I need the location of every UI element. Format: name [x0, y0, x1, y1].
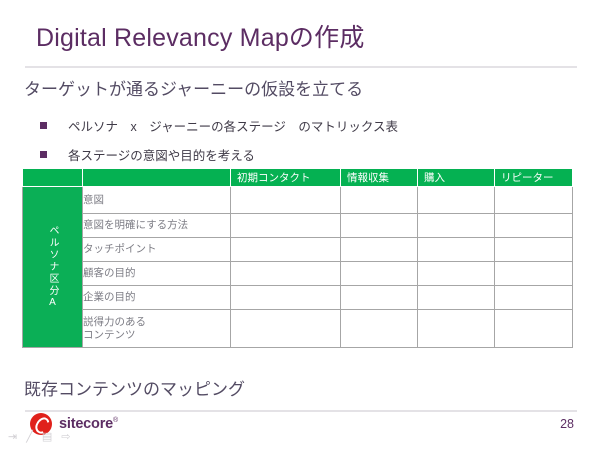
row-label-customer-goal: 顧客の目的 [83, 262, 231, 286]
cell-persuasive-content-purchase[interactable] [418, 310, 495, 348]
bullet-item-1-label: ペルソナ x ジャーニーの各ステージ のマトリックス表 [68, 116, 398, 135]
table-header-info-gathering: 情報収集 [341, 169, 418, 187]
square-bullet-icon [40, 151, 47, 158]
persona-segment-label: ペルソナ区分A [23, 187, 83, 348]
relevancy-matrix-table: 初期コンタクト 情報収集 購入 リピーター ペルソナ区分A 意図 意図を明確にす… [22, 168, 573, 348]
table-row: 意図を明確にする方法 [23, 214, 573, 238]
table-row: 顧客の目的 [23, 262, 573, 286]
cell-intent-repeater[interactable] [495, 187, 573, 214]
cell-touchpoint-repeater[interactable] [495, 238, 573, 262]
row-label-intent: 意図 [83, 187, 231, 214]
cell-customer-goal-purchase[interactable] [418, 262, 495, 286]
table-header-purchase: 購入 [418, 169, 495, 187]
cell-intent-purchase[interactable] [418, 187, 495, 214]
cell-clarify-repeater[interactable] [495, 214, 573, 238]
trademark-symbol: ® [113, 417, 118, 424]
bullet-item-1: ペルソナ x ジャーニーの各ステージ のマトリックス表 [40, 116, 398, 135]
bullet-item-2-label: 各ステージの意図や目的を考える [68, 145, 255, 164]
cell-touchpoint-info-gathering[interactable] [341, 238, 418, 262]
cell-customer-goal-repeater[interactable] [495, 262, 573, 286]
row-label-company-goal: 企業の目的 [83, 286, 231, 310]
cell-customer-goal-initial-contact[interactable] [231, 262, 341, 286]
table-row: ペルソナ区分A 意図 [23, 187, 573, 214]
page-number: 28 [560, 417, 574, 431]
title-divider [25, 66, 577, 68]
table-header-blank-label [83, 169, 231, 187]
slide-canvas: Digital Relevancy Mapの作成 ターゲットが通るジャーニーの仮… [0, 0, 600, 450]
footer-artifact-glyphs: ⇥ ╱ ▤ ⇨ [8, 430, 70, 443]
artifact-glyph-4: ⇨ [61, 430, 70, 443]
footer-divider [25, 410, 577, 412]
cell-clarify-initial-contact[interactable] [231, 214, 341, 238]
row-label-touchpoint: タッチポイント [83, 238, 231, 262]
cell-clarify-purchase[interactable] [418, 214, 495, 238]
square-bullet-icon [40, 122, 47, 129]
row-label-persuasive-content: 説得力のある コンテンツ [83, 310, 231, 348]
table-header-blank-persona [23, 169, 83, 187]
row-label-clarify-method: 意図を明確にする方法 [83, 214, 231, 238]
cell-intent-info-gathering[interactable] [341, 187, 418, 214]
cell-persuasive-content-initial-contact[interactable] [231, 310, 341, 348]
table-row: タッチポイント [23, 238, 573, 262]
artifact-glyph-3: ▤ [42, 430, 52, 443]
page-title: Digital Relevancy Mapの作成 [36, 22, 365, 54]
cell-clarify-info-gathering[interactable] [341, 214, 418, 238]
slide-subtitle: ターゲットが通るジャーニーの仮設を立てる [24, 79, 363, 101]
cell-intent-initial-contact[interactable] [231, 187, 341, 214]
persona-segment-text: ペルソナ区分A [46, 225, 59, 310]
cell-company-goal-initial-contact[interactable] [231, 286, 341, 310]
table-header-row: 初期コンタクト 情報収集 購入 リピーター [23, 169, 573, 187]
table-row: 説得力のある コンテンツ [23, 310, 573, 348]
cell-touchpoint-purchase[interactable] [418, 238, 495, 262]
cell-company-goal-purchase[interactable] [418, 286, 495, 310]
table-header-initial-contact: 初期コンタクト [231, 169, 341, 187]
table-row: 企業の目的 [23, 286, 573, 310]
lower-section-heading: 既存コンテンツのマッピング [24, 379, 245, 401]
cell-persuasive-content-repeater[interactable] [495, 310, 573, 348]
cell-persuasive-content-info-gathering[interactable] [341, 310, 418, 348]
artifact-glyph-2: ╱ [26, 430, 33, 443]
cell-company-goal-info-gathering[interactable] [341, 286, 418, 310]
bullet-item-2: 各ステージの意図や目的を考える [40, 145, 255, 164]
cell-company-goal-repeater[interactable] [495, 286, 573, 310]
artifact-glyph-1: ⇥ [8, 430, 17, 443]
cell-customer-goal-info-gathering[interactable] [341, 262, 418, 286]
table-header-repeater: リピーター [495, 169, 573, 187]
cell-touchpoint-initial-contact[interactable] [231, 238, 341, 262]
